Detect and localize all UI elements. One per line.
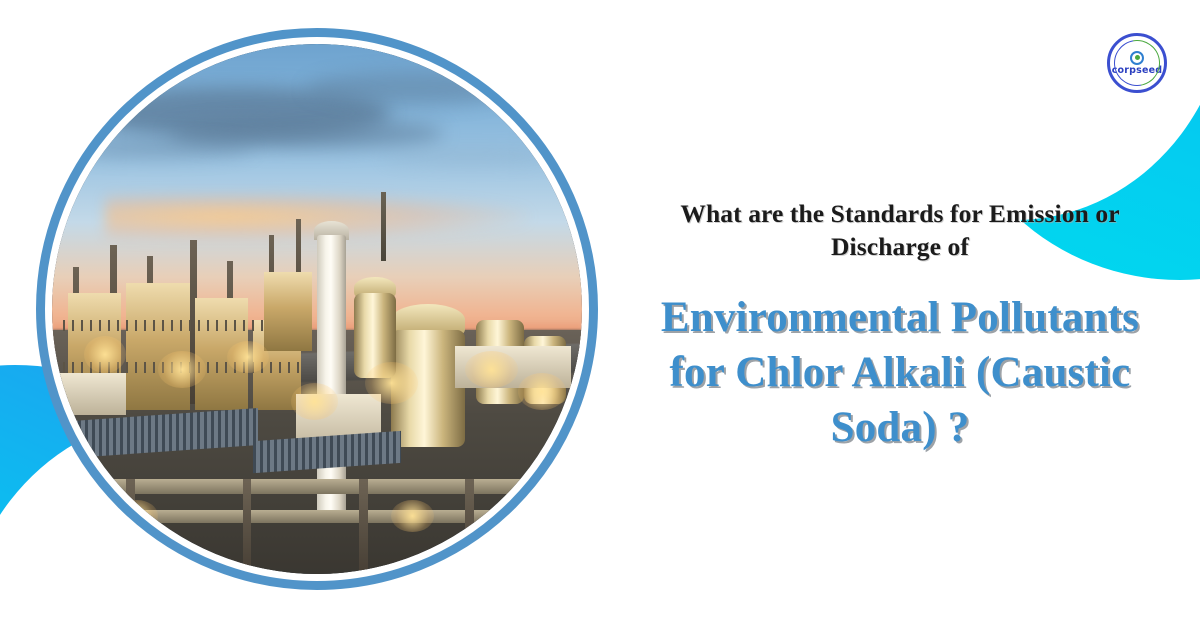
plant-light: [227, 341, 269, 373]
process-unit: [126, 283, 190, 410]
plant-light: [158, 351, 206, 388]
banner-root: corpseed: [0, 0, 1200, 630]
plant-building: [52, 373, 126, 415]
pipe-support: [243, 479, 251, 574]
plant-light: [116, 500, 158, 532]
plant-light: [84, 336, 126, 373]
logo-seed-mark-icon: [1130, 51, 1144, 65]
pipe-support: [465, 479, 473, 574]
cloud: [381, 149, 561, 164]
headline-title: Environmental Pollutants for Chlor Alkal…: [635, 290, 1165, 455]
plant-light: [518, 373, 566, 410]
corpseed-logo[interactable]: corpseed: [1107, 33, 1167, 93]
plant-light: [391, 500, 433, 532]
pipe-support: [359, 479, 367, 574]
plant-light: [365, 362, 418, 404]
text-column: What are the Standards for Emission or D…: [620, 0, 1180, 630]
logo-inner-circle: corpseed: [1113, 39, 1161, 87]
process-unit: [264, 272, 312, 352]
circular-photo-frame: [36, 28, 598, 590]
cloud: [63, 139, 254, 157]
cloud: [306, 72, 518, 106]
exhaust-stack: [381, 192, 386, 261]
kicker-text: What are the Standards for Emission or D…: [650, 197, 1150, 264]
plant-light: [291, 383, 339, 420]
distillation-tower: [317, 235, 346, 511]
industrial-plant-photo: [52, 44, 582, 574]
